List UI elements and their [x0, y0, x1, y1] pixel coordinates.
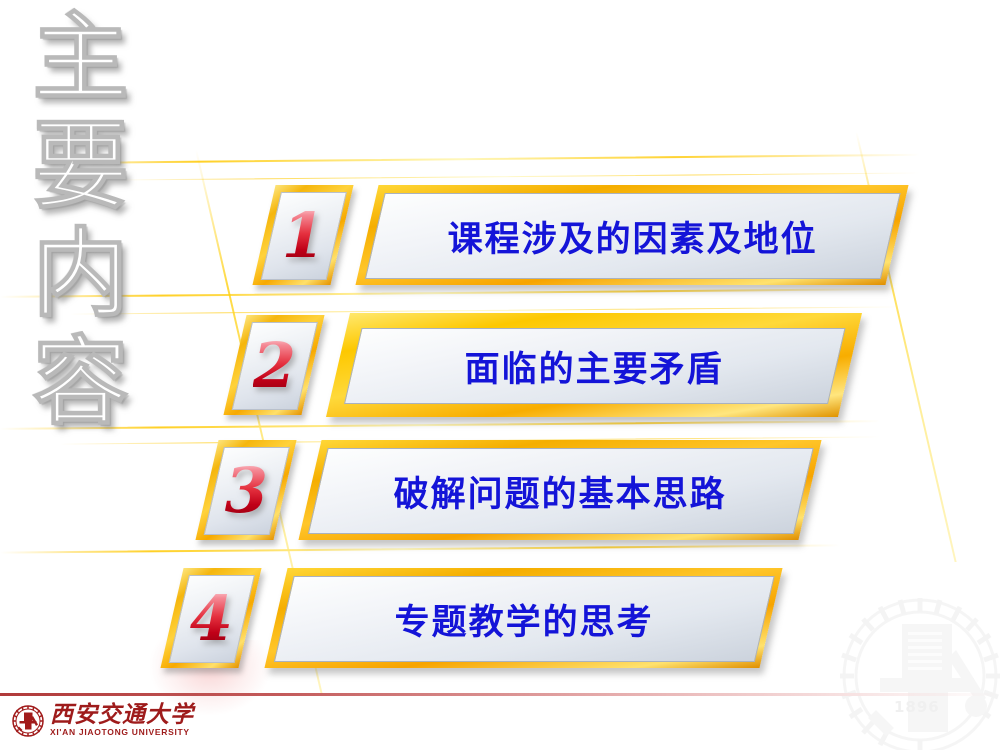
- agenda-text-inner-4: 专题教学的思考: [274, 576, 775, 662]
- agenda-number-box-4[interactable]: 4: [160, 568, 261, 668]
- university-logo: 西安交通大学 XI'AN JIAOTONG UNIVERSITY: [12, 703, 194, 738]
- agenda-rows: 1 课程涉及的因素及地位 2 面临的主要矛盾: [0, 0, 1000, 750]
- agenda-text-inner-3: 破解问题的基本思路: [308, 448, 814, 534]
- university-name-cn: 西安交通大学: [50, 703, 194, 727]
- agenda-number-box-1[interactable]: 1: [252, 185, 353, 285]
- agenda-number-box-2[interactable]: 2: [223, 315, 324, 415]
- agenda-label-2: 面临的主要矛盾: [465, 341, 724, 392]
- agenda-number-3: 3: [225, 460, 268, 522]
- agenda-number-inner-3: 3: [204, 447, 290, 535]
- agenda-text-box-4[interactable]: 专题教学的思考: [264, 568, 782, 668]
- agenda-number-4: 4: [190, 588, 233, 650]
- title-char-2: 要: [33, 112, 129, 220]
- agenda-number-box-3[interactable]: 3: [195, 440, 296, 540]
- title-char-4: 容: [33, 328, 129, 436]
- logo-text-block: 西安交通大学 XI'AN JIAOTONG UNIVERSITY: [50, 703, 194, 738]
- university-name-en: XI'AN JIAOTONG UNIVERSITY: [50, 727, 194, 738]
- agenda-number-inner-4: 4: [169, 575, 255, 663]
- agenda-text-box-1[interactable]: 课程涉及的因素及地位: [355, 185, 908, 285]
- agenda-text-box-3[interactable]: 破解问题的基本思路: [298, 440, 821, 540]
- title-char-1: 主: [33, 4, 129, 112]
- agenda-label-4: 专题教学的思考: [395, 594, 654, 645]
- footer-divider: [0, 693, 1000, 696]
- agenda-number-inner-2: 2: [232, 322, 318, 410]
- slide-title-vertical: 主 要 内 容: [18, 4, 143, 436]
- agenda-number-1: 1: [282, 205, 325, 267]
- title-char-3: 内: [33, 220, 129, 328]
- agenda-text-box-2[interactable]: 面临的主要矛盾: [326, 313, 862, 417]
- agenda-label-3: 破解问题的基本思路: [394, 466, 727, 517]
- agenda-number-inner-1: 1: [261, 192, 347, 280]
- agenda-label-1: 课程涉及的因素及地位: [448, 211, 818, 262]
- agenda-text-inner-2: 面临的主要矛盾: [344, 328, 846, 404]
- agenda-text-inner-1: 课程涉及的因素及地位: [365, 193, 901, 279]
- agenda-number-2: 2: [253, 335, 296, 397]
- xjtu-gear-emblem-icon: [12, 705, 44, 737]
- presentation-slide: 主 要 内 容 1 课程涉及的因素及地位 2: [0, 0, 1000, 750]
